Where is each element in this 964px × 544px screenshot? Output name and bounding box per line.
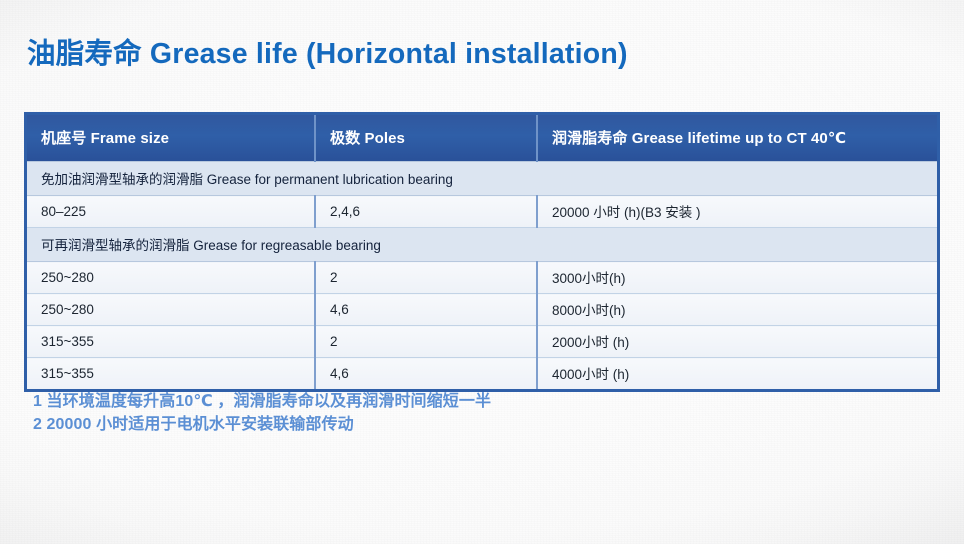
cell-frame-size: 315~355	[27, 358, 315, 390]
footnote-1: 1 当环境温度每升高10℃ ，润滑脂寿命以及再润滑时间缩短一半	[33, 390, 491, 413]
cell-frame-size: 250~280	[27, 294, 315, 326]
cell-poles: 2	[315, 326, 537, 358]
grease-life-table: 机座号 Frame size 极数 Poles 润滑脂寿命 Grease lif…	[27, 115, 937, 389]
cell-lifetime: 20000 小时 (h)(B3 安装 )	[537, 196, 937, 228]
table-row: 315~355 2 2000小时 (h)	[27, 326, 937, 358]
cell-poles: 2,4,6	[315, 196, 537, 228]
cell-frame-size: 80–225	[27, 196, 315, 228]
cell-frame-size: 315~355	[27, 326, 315, 358]
cell-lifetime: 2000小时 (h)	[537, 326, 937, 358]
cell-poles: 2	[315, 262, 537, 294]
column-header-grease-lifetime: 润滑脂寿命 Grease lifetime up to CT 40℃	[537, 115, 937, 162]
cell-poles: 4,6	[315, 294, 537, 326]
section-label: 可再润滑型轴承的润滑脂 Grease for regreasable beari…	[27, 228, 937, 262]
table-row: 250~280 4,6 8000小时(h)	[27, 294, 937, 326]
table-row: 315~355 4,6 4000小时 (h)	[27, 358, 937, 390]
section-label: 免加油润滑型轴承的润滑脂 Grease for permanent lubric…	[27, 162, 937, 196]
table-row: 80–225 2,4,6 20000 小时 (h)(B3 安装 )	[27, 196, 937, 228]
footnote-2: 2 20000 小时适用于电机水平安装联输部传动	[33, 413, 491, 436]
section-row-permanent-lubrication: 免加油润滑型轴承的润滑脂 Grease for permanent lubric…	[27, 162, 937, 196]
cell-lifetime: 8000小时(h)	[537, 294, 937, 326]
cell-lifetime: 4000小时 (h)	[537, 358, 937, 390]
table-row: 250~280 2 3000小时(h)	[27, 262, 937, 294]
cell-frame-size: 250~280	[27, 262, 315, 294]
cell-lifetime: 3000小时(h)	[537, 262, 937, 294]
slide-canvas: 油脂寿命 Grease life (Horizontal installatio…	[0, 0, 964, 544]
grease-life-table-container: 机座号 Frame size 极数 Poles 润滑脂寿命 Grease lif…	[24, 112, 940, 392]
table-header-row: 机座号 Frame size 极数 Poles 润滑脂寿命 Grease lif…	[27, 115, 937, 162]
column-header-frame-size: 机座号 Frame size	[27, 115, 315, 162]
page-title: 油脂寿命 Grease life (Horizontal installatio…	[27, 31, 628, 72]
section-row-regreasable: 可再润滑型轴承的润滑脂 Grease for regreasable beari…	[27, 228, 937, 262]
column-header-poles: 极数 Poles	[315, 115, 537, 162]
footnotes: 1 当环境温度每升高10℃ ，润滑脂寿命以及再润滑时间缩短一半 2 20000 …	[33, 390, 491, 436]
cell-poles: 4,6	[315, 358, 537, 390]
